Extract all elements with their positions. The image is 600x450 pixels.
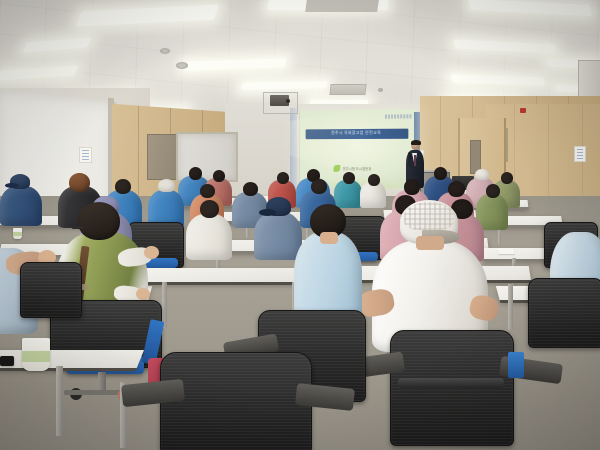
chair-lumbar-bar	[398, 378, 504, 388]
notice-left	[79, 147, 92, 163]
attendee-torso	[0, 186, 42, 226]
cap-brim	[5, 183, 19, 188]
attendee-navy-cap	[0, 186, 42, 226]
attendee-head	[115, 179, 131, 194]
attendee-head	[311, 179, 327, 194]
ceiling-duct	[305, 0, 379, 12]
attendee-neck	[320, 232, 338, 244]
front-whiteboard	[176, 132, 238, 182]
attendee-head	[213, 170, 225, 182]
attendee-torso	[294, 232, 362, 320]
attendee-teal-top	[334, 180, 362, 208]
attendee-head	[434, 167, 447, 180]
paper-cup	[13, 228, 22, 239]
attendee-cap	[475, 169, 489, 180]
cap-mesh-panel	[404, 202, 454, 230]
presenter-hair	[411, 140, 421, 145]
slide-title-text: 전주시 옥외광고업 안전교육	[306, 128, 409, 136]
attendee-lightblue-top	[294, 232, 362, 320]
attendee-head	[69, 173, 90, 192]
cap-brim	[259, 209, 276, 216]
table-leg	[56, 366, 63, 436]
slide-header-marks	[385, 115, 411, 118]
attendee-head	[243, 182, 258, 196]
training-table	[129, 268, 312, 284]
eyeglasses-icon	[72, 226, 84, 229]
handout-sheet	[497, 248, 514, 254]
slide-footer-text: 전주시청 도시경관과	[343, 166, 372, 171]
slide-logo: 전주시청 도시경관과	[334, 164, 371, 171]
attendee-head	[200, 200, 219, 218]
mobile-phone	[0, 356, 14, 366]
table-leg	[508, 284, 513, 330]
attendee-head	[501, 172, 513, 184]
wall-recess-left	[147, 134, 179, 180]
presenter-tie	[414, 155, 416, 166]
attendee-neck	[416, 236, 444, 250]
attendee-head	[78, 202, 120, 240]
emergency-light-icon	[520, 108, 526, 113]
attendee-white-top-r3	[186, 214, 232, 260]
notice-right	[574, 146, 586, 162]
attendee-head	[448, 181, 465, 197]
slide-title-banner: 전주시 옥외광고업 안전교육	[306, 128, 409, 139]
attendee-head	[486, 184, 500, 198]
wall-ac-unit	[578, 60, 600, 98]
paper-cup	[22, 338, 50, 371]
green-leaf-logo-icon	[334, 164, 341, 171]
attendee-hand	[136, 288, 150, 300]
attendee-white-top	[360, 182, 386, 208]
task-chair-back[interactable]	[20, 262, 82, 318]
attendee-head	[368, 174, 380, 186]
task-chair-back[interactable]	[390, 330, 514, 446]
ceiling-speaker-icon	[176, 62, 188, 69]
lecture-room-photo: 전주시 옥외광고업 안전교육 전주시청 도시경관과	[0, 0, 600, 450]
attendee-head	[200, 184, 215, 198]
projector-lens-icon	[286, 99, 290, 103]
attendee-head	[343, 172, 355, 184]
attendee-cap	[158, 179, 175, 192]
attendee-head	[404, 179, 420, 195]
task-chair-back[interactable]	[160, 352, 312, 450]
attendee-head	[277, 172, 289, 184]
ceiling-speaker-icon	[160, 48, 170, 54]
attendee-hand	[144, 246, 159, 259]
attendee-torso	[186, 214, 232, 260]
attendee-torso	[334, 180, 362, 208]
ceiling-air-vent	[329, 84, 366, 95]
ceiling-sprinkler-icon	[378, 88, 383, 92]
attendee-head	[189, 167, 202, 180]
water-bottle	[508, 352, 524, 378]
task-chair-back[interactable]	[528, 278, 600, 348]
